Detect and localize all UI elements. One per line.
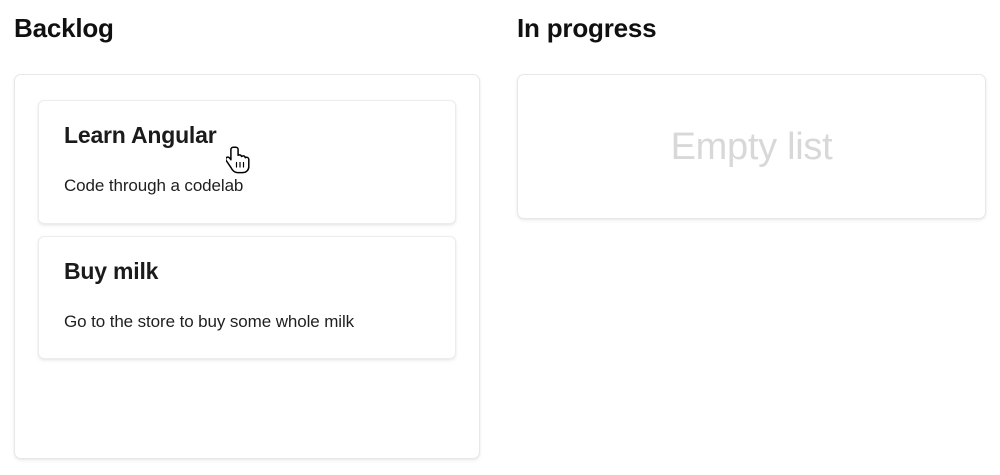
kanban-board: Backlog Learn Angular Code through a cod… bbox=[0, 0, 1000, 475]
task-card[interactable]: Buy milk Go to the store to buy some who… bbox=[38, 236, 456, 360]
column-title-in-progress: In progress bbox=[517, 15, 656, 41]
task-card-title: Learn Angular bbox=[64, 123, 430, 148]
drop-list-backlog[interactable]: Learn Angular Code through a codelab Buy… bbox=[14, 74, 480, 459]
drop-list-in-progress[interactable]: Empty list bbox=[517, 74, 986, 219]
task-card-description: Go to the store to buy some whole milk bbox=[64, 284, 430, 332]
column-title-backlog: Backlog bbox=[14, 15, 114, 41]
empty-list-placeholder: Empty list bbox=[671, 128, 833, 166]
task-card-description: Code through a codelab bbox=[64, 148, 430, 196]
task-card-title: Buy milk bbox=[64, 259, 430, 284]
task-card[interactable]: Learn Angular Code through a codelab bbox=[38, 100, 456, 224]
